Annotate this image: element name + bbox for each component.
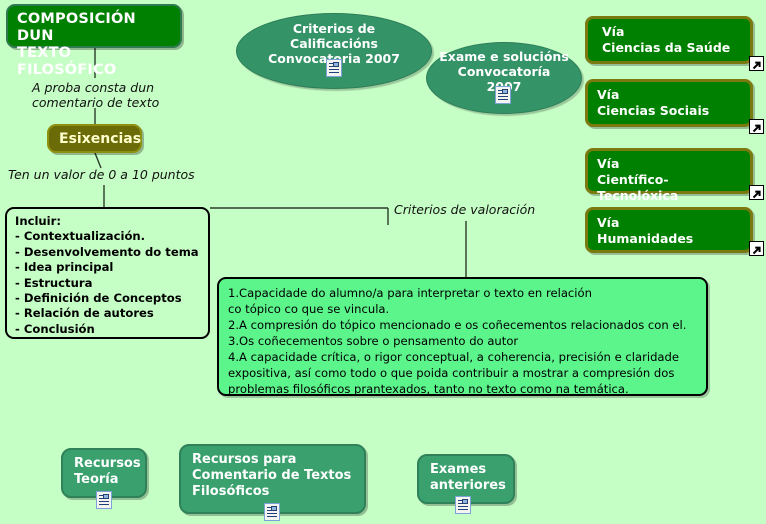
page-title[interactable]: COMPOSICIÓN DUN TEXTO FILOSÓFICO — [6, 4, 182, 48]
list-item: - Estructura — [15, 276, 200, 291]
criteria-line: 4.A capacidade crítica, o rigor conceptu… — [228, 349, 697, 365]
incluir-box: Incluir: - Contextualización. - Desenvol… — [5, 207, 210, 339]
via-line-2: Humanidades — [597, 231, 750, 247]
label-criterios-de-valoracion: Criterios de valoración — [394, 202, 564, 217]
via-line-2: Científico- Tecnolóxica — [597, 172, 750, 204]
list-item: - Definición de Conceptos — [15, 291, 200, 306]
node-esixencias[interactable]: Esixencias — [47, 124, 142, 153]
via-box-cientifico-tecnoloxica[interactable]: Vía Científico- Tecnolóxica — [585, 148, 753, 194]
via-box-ciencias-sociais[interactable]: Vía Ciencias Sociais — [585, 79, 753, 127]
criteria-line: 2.A compresión do tópico mencionado e os… — [228, 317, 697, 333]
criterios-valoracion-box: 1.Capacidade do alumno/a para interpreta… — [217, 277, 708, 396]
external-link-arrow-icon[interactable] — [749, 119, 764, 134]
criteria-line: expositiva, así como todo o que poida co… — [228, 365, 697, 381]
list-item: - Idea principal — [15, 260, 200, 275]
external-link-arrow-icon[interactable] — [749, 185, 764, 200]
label-ten-un-valor: Ten un valor de 0 a 10 puntos — [8, 167, 198, 182]
via-line-1: Vía — [597, 24, 750, 40]
list-item: - Conclusión — [15, 322, 200, 337]
via-line-1: Vía — [597, 156, 750, 172]
ellipse-line-1: Criterios de Calificacións — [237, 21, 431, 51]
criteria-line: problemas filosóficos prantexados, tanto… — [228, 381, 697, 397]
criteria-line: 3.Os coñecementos sobre o pensamento do … — [228, 333, 697, 349]
node-criterios-calificacions[interactable]: Criterios de Calificacións Convocatoria … — [236, 13, 432, 89]
document-icon[interactable] — [96, 491, 112, 509]
via-line-2: Ciencias Sociais — [597, 103, 750, 119]
external-link-arrow-icon[interactable] — [749, 56, 764, 71]
via-box-humanidades[interactable]: Vía Humanidades — [585, 207, 753, 253]
document-icon[interactable] — [495, 86, 511, 104]
document-icon[interactable] — [326, 59, 342, 77]
list-item: - Relación de autores — [15, 306, 200, 321]
incluir-heading: Incluir: — [15, 214, 200, 229]
criteria-line: 1.Capacidade do alumno/a para interpreta… — [228, 285, 697, 301]
via-line-2: Ciencias da Saúde — [597, 40, 750, 56]
label-a-proba: A proba consta dun comentario de texto — [32, 80, 192, 110]
concept-map-canvas: COMPOSICIÓN DUN TEXTO FILOSÓFICO A proba… — [0, 0, 766, 524]
document-icon[interactable] — [455, 496, 471, 514]
via-line-1: Vía — [597, 87, 750, 103]
criteria-line: co tópico co que se vincula. — [228, 301, 697, 317]
list-item: - Contextualización. — [15, 229, 200, 244]
ellipse-line-1: Exame e solucións — [427, 49, 581, 64]
external-link-arrow-icon[interactable] — [749, 241, 764, 256]
list-item: - Desenvolvemento do tema — [15, 245, 200, 260]
via-line-1: Vía — [597, 215, 750, 231]
via-box-ciencias-da-saude[interactable]: Vía Ciencias da Saúde — [585, 16, 753, 64]
document-icon[interactable] — [264, 503, 280, 521]
